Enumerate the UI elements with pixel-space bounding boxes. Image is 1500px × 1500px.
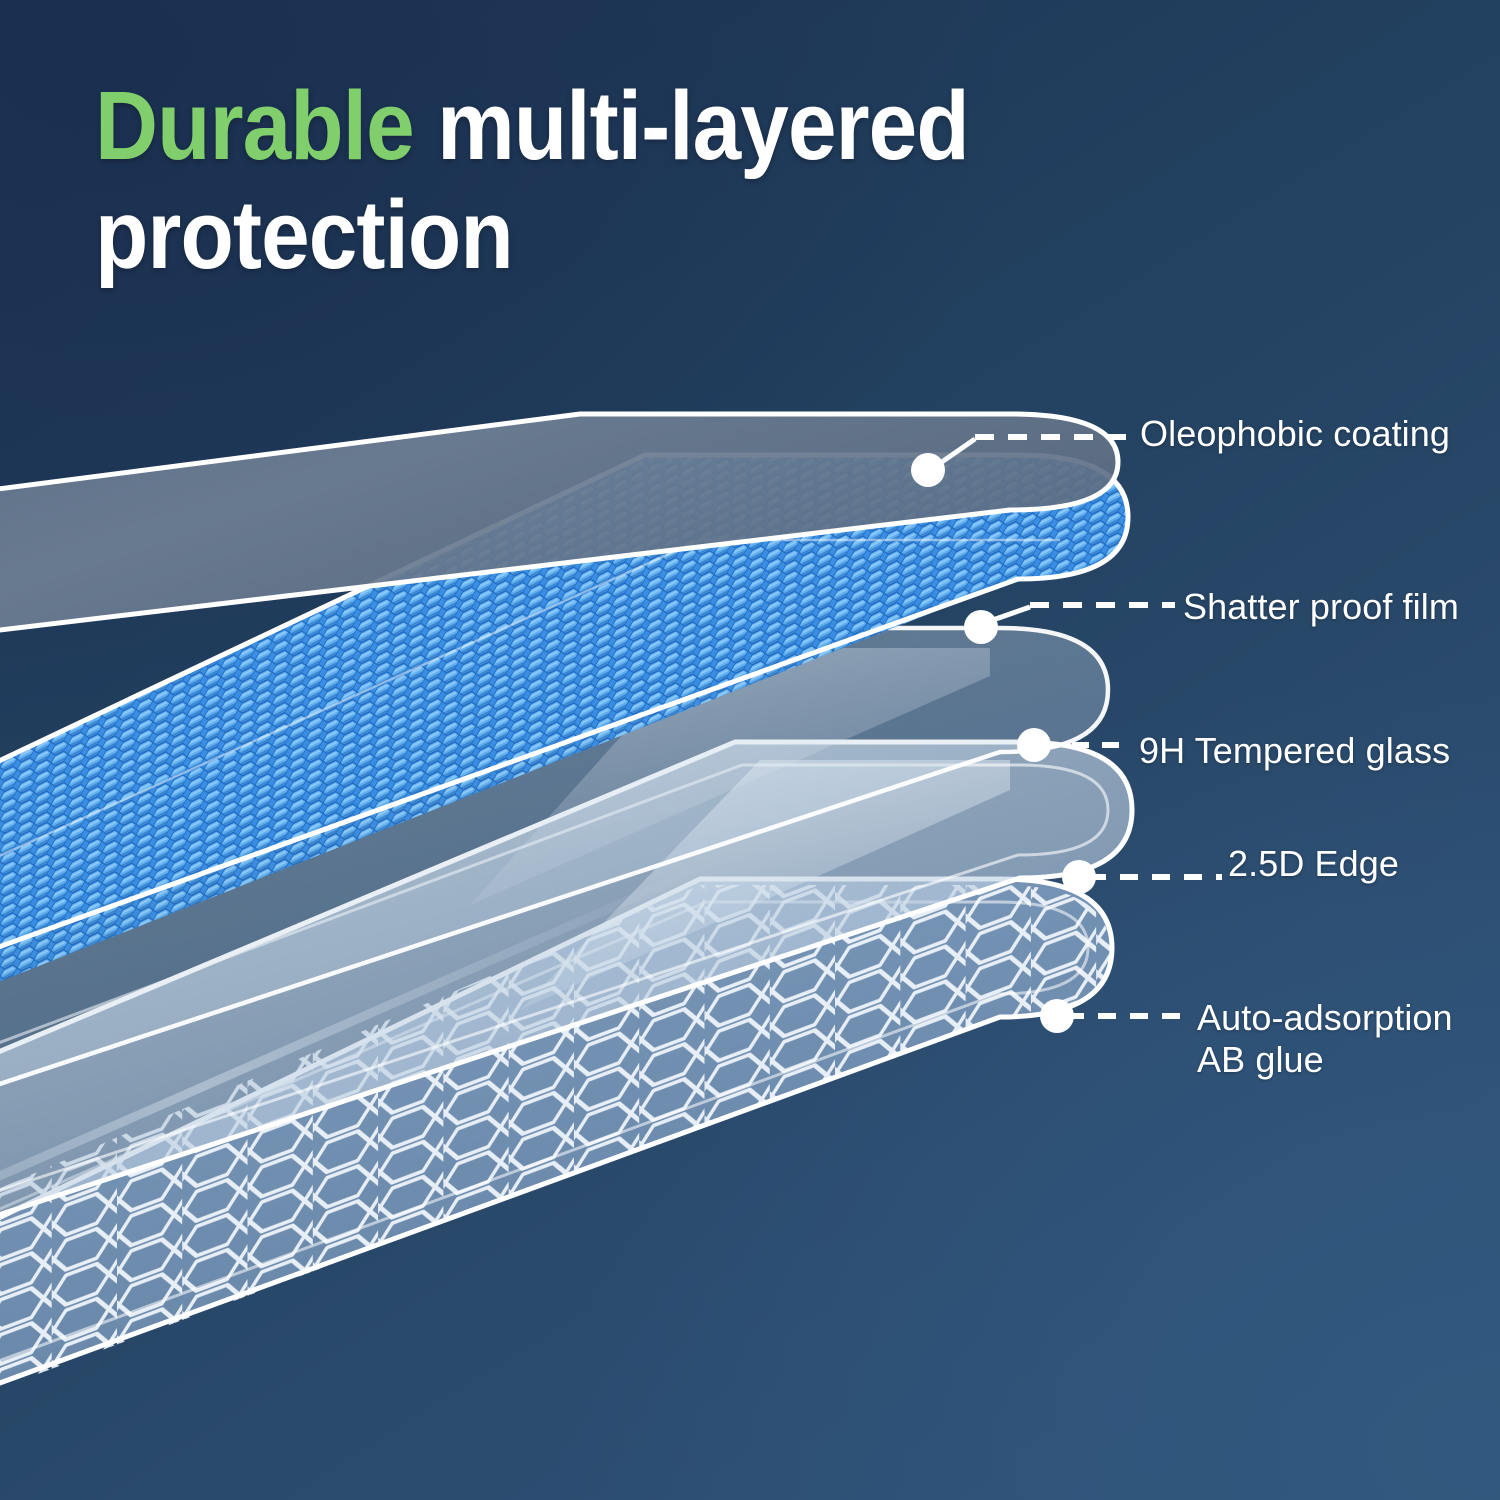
label-9h-tempered-glass: 9H Tempered glass — [1139, 730, 1450, 772]
marker-dot-auto-adsorption-ab-glue — [1040, 999, 1074, 1033]
label-shatter-proof-film: Shatter proof film — [1183, 586, 1459, 628]
label-auto-adsorption-ab-glue: Auto-adsorption AB glue — [1197, 997, 1453, 1082]
label-oleophobic-coating: Oleophobic coating — [1140, 413, 1450, 455]
label-2-5d-edge: 2.5D Edge — [1228, 843, 1399, 885]
marker-dot-2-5d-edge — [1062, 860, 1096, 894]
marker-dot-shatter-proof-film — [964, 610, 998, 644]
marker-dot-oleophobic-coating — [911, 453, 945, 487]
marker-dot-9h-tempered-glass — [1017, 728, 1051, 762]
infographic-canvas: Durable multi-layered protection — [0, 0, 1500, 1500]
leader-segment-shatter-proof-film — [990, 607, 1030, 621]
